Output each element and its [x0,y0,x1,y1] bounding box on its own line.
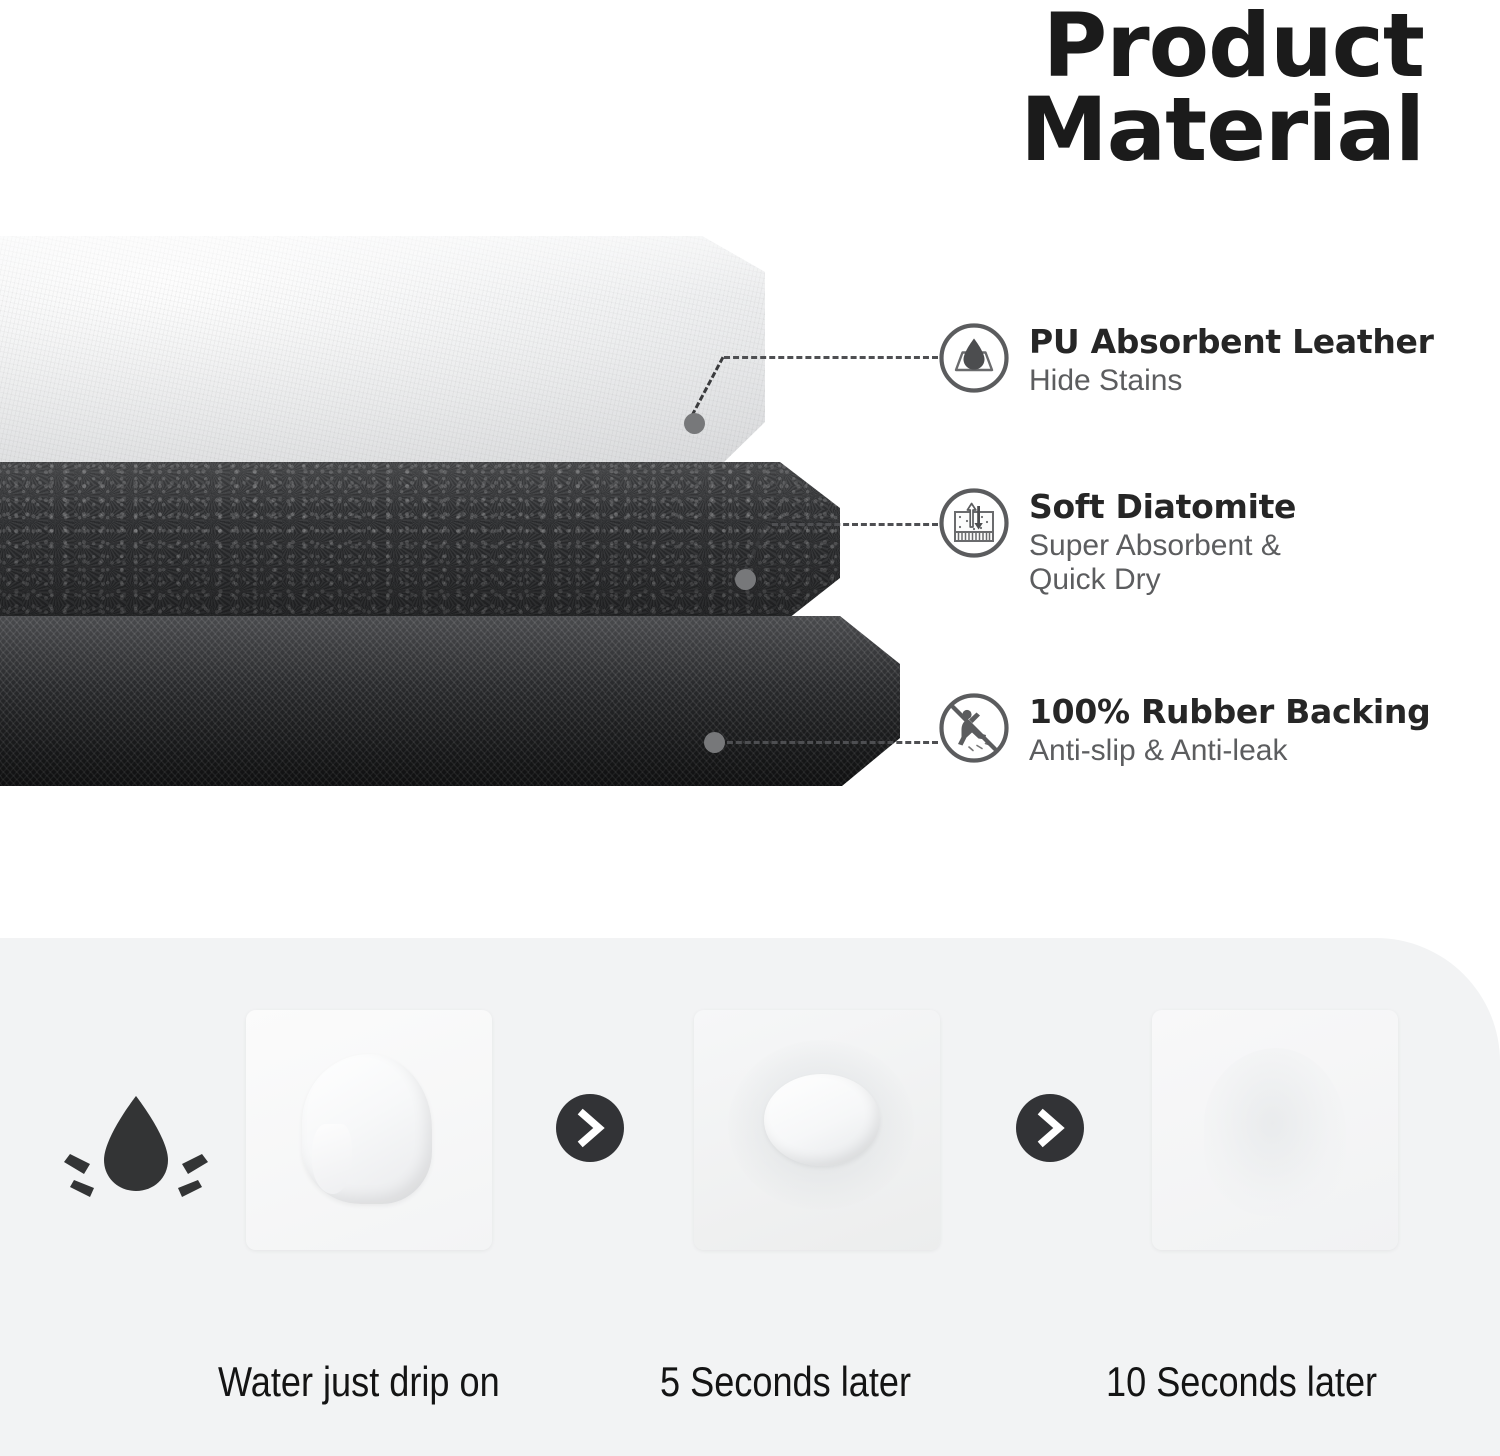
pu-leather-layer [0,236,780,466]
feature-callout-pu-leather: PU Absorbent Leather Hide Stains [936,320,1434,398]
absorption-demo-row: Water just drip on 5 Seconds later 10 Se… [0,1010,1500,1260]
leader-line-pu-horizontal [724,356,938,359]
feature-title-pu-leather: PU Absorbent Leather [1029,325,1434,360]
title-line-product: Product [1020,4,1424,88]
anchor-dot-pu [684,413,705,434]
chevron-right-icon[interactable] [1016,1094,1084,1162]
absorb-quick-dry-icon [936,485,1012,561]
demo-image-5-seconds [694,1010,940,1250]
demo-caption-2: 5 Seconds later [660,1358,911,1406]
feature-subtitle-rubber: Anti-slip & Anti-leak [1029,734,1430,768]
absorption-demo-panel: Water just drip on 5 Seconds later 10 Se… [0,938,1500,1456]
demo-caption-1: Water just drip on [218,1358,500,1406]
water-drop-on-leather-icon [936,320,1012,396]
feature-subtitle-pu-leather: Hide Stains [1029,364,1434,398]
anchor-dot-rubber [704,732,725,753]
layered-mat-illustration [0,236,900,816]
feature-subtitle-line: Quick Dry [1029,563,1296,597]
diatomite-layer [0,462,840,622]
leader-line-diatomite-horizontal [772,523,938,526]
anchor-dot-diatomite [735,569,756,590]
feature-title-rubber: 100% Rubber Backing [1029,695,1430,730]
demo-image-10-seconds [1152,1010,1398,1250]
feature-callout-diatomite: Soft Diatomite Super Absorbent & Quick D… [936,485,1296,597]
demo-caption-3: 10 Seconds later [1106,1358,1377,1406]
water-puddle-shape [764,1074,880,1166]
feature-subtitle-line: Super Absorbent & [1029,529,1296,563]
no-slip-icon [936,690,1012,766]
chevron-right-icon[interactable] [556,1094,624,1162]
feature-text-diatomite: Soft Diatomite Super Absorbent & Quick D… [1029,485,1296,597]
water-absorbed-shape [1204,1048,1346,1216]
water-splash-icon [48,1092,224,1214]
feature-callout-rubber: 100% Rubber Backing Anti-slip & Anti-lea… [936,690,1430,768]
demo-image-water-drip [246,1010,492,1250]
feature-text-rubber: 100% Rubber Backing Anti-slip & Anti-lea… [1029,690,1430,768]
feature-subtitle-diatomite: Super Absorbent & Quick Dry [1029,529,1296,597]
feature-text-pu-leather: PU Absorbent Leather Hide Stains [1029,320,1434,398]
title-line-material: Material [1020,88,1424,172]
page-title: Product Material [1020,4,1424,173]
water-puddle-shape [302,1054,432,1204]
feature-subtitle-line: Anti-slip & Anti-leak [1029,734,1430,768]
leader-line-rubber-horizontal [718,741,938,744]
rubber-layer [0,616,900,786]
feature-subtitle-line: Hide Stains [1029,364,1434,398]
feature-title-diatomite: Soft Diatomite [1029,490,1296,525]
